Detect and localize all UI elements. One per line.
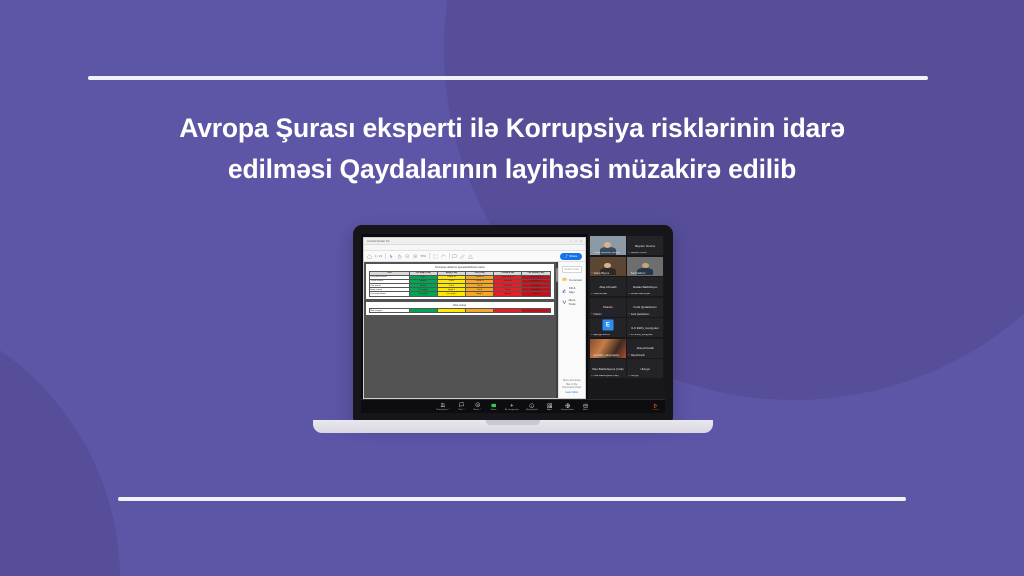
participant-nametag: ●Afaq Ahmadli — [628, 354, 662, 357]
control-more[interactable]: More — [581, 403, 590, 411]
participant-name: Bayram Orucov — [627, 244, 663, 248]
pdf-page-2: Risk xəritəsi Risk səviyyəsi — [366, 302, 554, 316]
legend-cell — [466, 309, 494, 313]
control-interpretation[interactable]: Interpretation — [561, 403, 574, 411]
control-label: React ⌃ — [473, 408, 481, 411]
laptop-mockup: Acrobat Reader DC — □ ✕ — [305, 225, 720, 450]
legend-cell — [409, 309, 437, 313]
control-label: Interpretation — [561, 409, 574, 411]
tool-item-more-tools[interactable]: More Tools — [562, 298, 583, 306]
participant-nametag: ●Kamil Salimov — [628, 272, 662, 275]
participant-tile[interactable]: Afaq Ahmadli●Afaq Ahmadli — [590, 277, 626, 296]
participant-name: Afaq Ahmadli — [627, 346, 663, 350]
participant-name-small: Nisə Bakhshiyeva (CoE) — [594, 375, 619, 377]
mic-muted-icon: ● — [591, 354, 593, 357]
participant-name-small: Ulviyya — [631, 375, 638, 377]
mic-muted-icon: ● — [628, 252, 630, 255]
control-chat[interactable]: Chat ⌃ — [457, 402, 466, 411]
participant-name-small: Afaq Ahmadli — [631, 355, 645, 357]
tool-item-comment[interactable]: Comment — [562, 277, 583, 282]
control-label: Share — [491, 409, 497, 411]
info-icon — [529, 403, 535, 409]
participant-nametag: ●Ruslan Bakhshiyev — [628, 293, 662, 296]
highlight-icon[interactable] — [460, 254, 465, 259]
share-button-label: Share — [569, 254, 577, 258]
control-label: Chat ⌃ — [458, 408, 465, 411]
participant-tile[interactable]: Ulviyya●Ulviyya — [627, 359, 663, 378]
row-header: Risk səviyyəsi — [370, 309, 410, 313]
share-button[interactable]: ⤴ Share — [560, 253, 582, 260]
video-tile-row: ●Səbinə Əliyeva●Kamil Salimov — [590, 257, 663, 276]
mic-muted-icon: ● — [591, 293, 593, 296]
mic-muted-icon: ● — [628, 354, 630, 357]
comment-icon — [562, 277, 567, 282]
participant-nametag: ●Afaq Ahmadli — [591, 293, 625, 296]
participants-rail[interactable]: ●Tərlan Səfərova (Vebinar)Bayram Orucov●… — [588, 234, 665, 399]
matrix-cell: Orta 5 — [522, 292, 550, 296]
participant-nametag: ●Ferid Qarakhanov — [628, 313, 662, 316]
participant-tile[interactable]: ●ILO EWG_videoprojektor — [590, 339, 626, 358]
participant-name: Khanim — [590, 305, 626, 309]
mic-muted-icon: ● — [628, 375, 630, 378]
control-ai-companion[interactable]: AI Companion — [505, 403, 519, 411]
search-tools-input[interactable]: Search tools — [562, 266, 583, 273]
acrobat-toolbar: 1 / 24 — [364, 251, 585, 262]
mic-muted-icon: ● — [628, 313, 630, 316]
page-title-line-2: edilməsi Qaydalarının layihəsi müzakirə … — [0, 149, 1024, 190]
participant-tile[interactable]: ILO EWG_kompyuter●ILO EWG_kompyuter — [627, 318, 663, 337]
video-tile[interactable]: ●Səbinə Əliyeva — [590, 257, 626, 276]
participant-name: Kamil Salimov — [631, 273, 646, 275]
zoom-level[interactable]: 50% — [421, 254, 427, 258]
document-cloud-promo: Store and share files in the Document Cl… — [562, 379, 583, 394]
participant-tile[interactable]: Afaq Ahmadli●Afaq Ahmadli — [627, 339, 663, 358]
participant-nametag: ●Ulviyya — [628, 375, 662, 378]
participant-name-small: Bayram Orucov — [631, 252, 647, 254]
video-tile-row: ●Tərlan Səfərova (Vebinar)Bayram Orucov●… — [590, 236, 663, 255]
table-row: Risk səviyyəsi — [370, 309, 551, 313]
more-dots-icon — [583, 403, 589, 409]
divider-bottom — [118, 497, 906, 501]
avatar: E — [602, 320, 613, 331]
globe-icon — [565, 403, 571, 409]
more-tools-icon — [562, 300, 567, 305]
participant-tile[interactable]: Ruslan Bakhshiyev●Ruslan Bakhshiyev — [627, 277, 663, 296]
participant-tile-row: E●Elgunjijk EventsILO EWG_kompyuter●ILO … — [590, 318, 663, 337]
tool-item-label: Comment — [569, 278, 582, 282]
control-apps[interactable]: Apps — [545, 403, 554, 411]
control-react[interactable]: React ⌃ — [473, 402, 482, 411]
mic-muted-icon: ● — [628, 272, 630, 275]
page-title-line-1: Avropa Şurası eksperti ilə Korrupsiya ri… — [0, 108, 1024, 149]
pdf-viewer[interactable]: Korrupsiya risklərinin qiymətləndirilməs… — [364, 262, 554, 398]
chat-icon — [459, 402, 465, 408]
legend-cell — [437, 309, 465, 313]
participant-name: Afaq Ahmadli — [590, 285, 626, 289]
acrobat-titlebar: Acrobat Reader DC — □ ✕ — [364, 238, 585, 245]
participant-tile-row: Nisə Bakhshiyeva (CoE)●Nisə Bakhshiyeva … — [590, 359, 663, 378]
acrobat-tools-panel: Search tools Comment — [558, 262, 586, 398]
control-meeting-info[interactable]: Meeting Info — [526, 403, 538, 411]
control-participants[interactable]: Participants ⌃ — [436, 402, 450, 411]
control-label: Apps — [547, 409, 552, 411]
close-icon[interactable]: ✕ — [580, 240, 582, 243]
participant-name: Ulviyya — [627, 367, 663, 371]
participant-tile[interactable]: Khanim●Khanim — [590, 298, 626, 317]
react-icon — [475, 402, 481, 408]
matrix-cell: Çox aşağı 1 — [409, 292, 437, 296]
hand-tool-icon[interactable] — [397, 254, 402, 259]
home-icon[interactable] — [367, 254, 372, 259]
learn-more-link[interactable]: Learn More — [562, 391, 583, 394]
toolbar-separator-3 — [449, 253, 450, 259]
signature-icon[interactable] — [468, 254, 473, 259]
participant-tile-row: Afaq Ahmadli●Afaq AhmadliRuslan Bakhshiy… — [590, 277, 663, 296]
acrobat-body: Korrupsiya risklərinin qiymətləndirilməs… — [364, 262, 585, 398]
tool-item-label: More Tools — [569, 298, 582, 306]
apps-icon — [547, 403, 553, 409]
laptop-screen: Acrobat Reader DC — □ ✕ — [361, 234, 665, 413]
control-label: Leave — [653, 409, 659, 411]
participant-name-small: Afaq Ahmadli — [594, 293, 608, 295]
share-icon: ⤴ — [565, 254, 568, 258]
participant-name-small: ILO EWG_videoprojektor — [594, 355, 620, 357]
maximize-icon[interactable]: □ — [575, 240, 577, 243]
participant-nametag: ●Bayram Orucov — [628, 252, 662, 255]
toolbar-separator — [385, 253, 386, 259]
page-indicator[interactable]: 1 / 24 — [375, 254, 382, 258]
participant-nametag: ●ILO EWG_videoprojektor — [591, 354, 625, 357]
participant-tile[interactable]: E●Elgunjijk Events — [590, 318, 626, 337]
participants-icon — [440, 402, 446, 408]
participant-nametag: ●Nisə Bakhshiyeva (CoE) — [591, 375, 625, 378]
risk-legend-table: Risk səviyyəsi — [369, 308, 551, 313]
tool-item-label: Fill & Sign — [569, 286, 582, 294]
acrobat-window: Acrobat Reader DC — □ ✕ — [363, 237, 586, 399]
participant-tile-row: ●ILO EWG_videoprojektorAfaq Ahmadli●Afaq… — [590, 339, 663, 358]
participant-name: Səbinə Əliyeva — [594, 273, 609, 275]
row-header: Çox aşağı ehtimal — [370, 292, 410, 296]
laptop-notch — [486, 420, 540, 425]
participant-name: Ruslan Bakhshiyev — [627, 285, 663, 289]
control-label: AI Companion — [505, 409, 519, 411]
acrobat-window-title: Acrobat Reader DC — [367, 240, 390, 243]
mic-muted-icon: ● — [591, 313, 593, 316]
pdf-page-2-title: Risk xəritəsi — [369, 304, 551, 307]
mic-muted-icon: ● — [628, 334, 630, 337]
tool-item-fill-and-sign[interactable]: Fill & Sign — [562, 286, 583, 294]
laptop-lid: Acrobat Reader DC — □ ✕ — [353, 225, 673, 421]
select-tool-icon[interactable] — [389, 254, 394, 259]
risk-matrix-table: TəsirÇox aşağı (1 bal)Aşağı (2 bal)Orta … — [369, 271, 551, 297]
control-leave[interactable]: Leave — [651, 403, 660, 411]
video-tile[interactable]: ●Kamil Salimov — [627, 257, 663, 276]
mic-muted-icon: ● — [591, 334, 593, 337]
rotate-icon[interactable] — [441, 254, 446, 259]
shared-screen-area: Acrobat Reader DC — □ ✕ — [361, 234, 588, 399]
video-meeting-window: Acrobat Reader DC — □ ✕ — [361, 234, 665, 399]
video-tile[interactable]: ●Tərlan Səfərova (Vebinar) — [590, 236, 626, 255]
mic-muted-icon: ● — [591, 375, 593, 378]
participant-tile[interactable]: Ferid Qarakhanov●Ferid Qarakhanov — [627, 298, 663, 317]
participant-name-small: Khanim — [594, 314, 602, 316]
participant-name: Ferid Qarakhanov — [627, 305, 663, 309]
control-label: Meeting Info — [526, 409, 538, 411]
divider-top — [88, 76, 928, 80]
legend-cell — [522, 309, 550, 313]
video-tile[interactable]: Bayram Orucov●Bayram Orucov — [627, 236, 663, 255]
mic-muted-icon: ● — [628, 293, 630, 296]
participant-name-small: ILO EWG_kompyuter — [631, 334, 653, 336]
participant-name-small: Elgunjijk Events — [594, 334, 610, 336]
matrix-cell: Aşağı 4 — [494, 292, 522, 296]
slide-canvas: Avropa Şurası eksperti ilə Korrupsiya ri… — [0, 0, 1024, 576]
table-row: Çox aşağı ehtimalÇox aşağı 1Çox aşağı 2A… — [370, 292, 551, 296]
control-label: Participants ⌃ — [436, 408, 450, 411]
pdf-page-1: Korrupsiya risklərinin qiymətləndirilməs… — [366, 264, 554, 299]
participant-name-small: Ruslan Bakhshiyev — [631, 293, 651, 295]
participant-nametag: ●ILO EWG_kompyuter — [628, 334, 662, 337]
participant-nametag: ●Elgunjijk Events — [591, 334, 625, 337]
background-blob-bottom-left — [0, 300, 120, 576]
participant-nametag: ●Khanim — [591, 313, 625, 316]
participant-name: ILO EWG_kompyuter — [627, 326, 663, 330]
participant-nametag: ●Tərlan Səfərova (Vebinar) — [591, 252, 625, 255]
participant-nametag: ●Səbinə Əliyeva — [591, 272, 625, 275]
meeting-control-bar: Participants ⌃Chat ⌃React ⌃ShareAI Compa… — [361, 399, 665, 413]
zoom-in-icon[interactable] — [413, 254, 418, 259]
participant-tile-row: Khanim●KhanimFerid Qarakhanov●Ferid Qara… — [590, 298, 663, 317]
control-label: More — [583, 409, 588, 411]
minimize-icon[interactable]: — — [570, 240, 573, 243]
promo-line-2: Document Cloud — [562, 386, 583, 389]
ai-sparkle-icon — [509, 403, 515, 409]
pdf-page-1-title: Korrupsiya risklərinin qiymətləndirilməs… — [369, 266, 551, 269]
window-controls[interactable]: — □ ✕ — [570, 240, 582, 243]
risk-legend-body: Risk səviyyəsi — [370, 309, 551, 313]
toolbar-separator-2 — [429, 253, 430, 259]
comment-icon[interactable] — [452, 254, 457, 259]
legend-cell — [494, 309, 522, 313]
matrix-cell: Aşağı 3 — [466, 292, 494, 296]
zoom-out-icon[interactable] — [405, 254, 410, 259]
matrix-cell: Çox aşağı 2 — [437, 292, 465, 296]
mic-muted-icon: ● — [591, 272, 593, 275]
share-screen-icon — [491, 403, 497, 409]
fill-sign-icon — [562, 288, 567, 293]
risk-matrix-body: Çox yüksək ehtimalOrta 5Yüksək 10Yüksək … — [370, 275, 551, 296]
participant-name: Tərlan Səfərova (Vebinar) — [594, 252, 620, 254]
page-title: Avropa Şurası eksperti ilə Korrupsiya ri… — [0, 108, 1024, 190]
participant-name-small: Ferid Qarakhanov — [631, 314, 649, 316]
participant-name: Nisə Bakhshiyeva (CoE) — [590, 367, 626, 371]
page-fit-icon[interactable] — [433, 254, 438, 259]
mic-muted-icon: ● — [591, 252, 593, 255]
leave-icon — [653, 403, 659, 409]
participant-tile[interactable]: Nisə Bakhshiyeva (CoE)●Nisə Bakhshiyeva … — [590, 359, 626, 378]
control-share[interactable]: Share — [489, 403, 498, 411]
